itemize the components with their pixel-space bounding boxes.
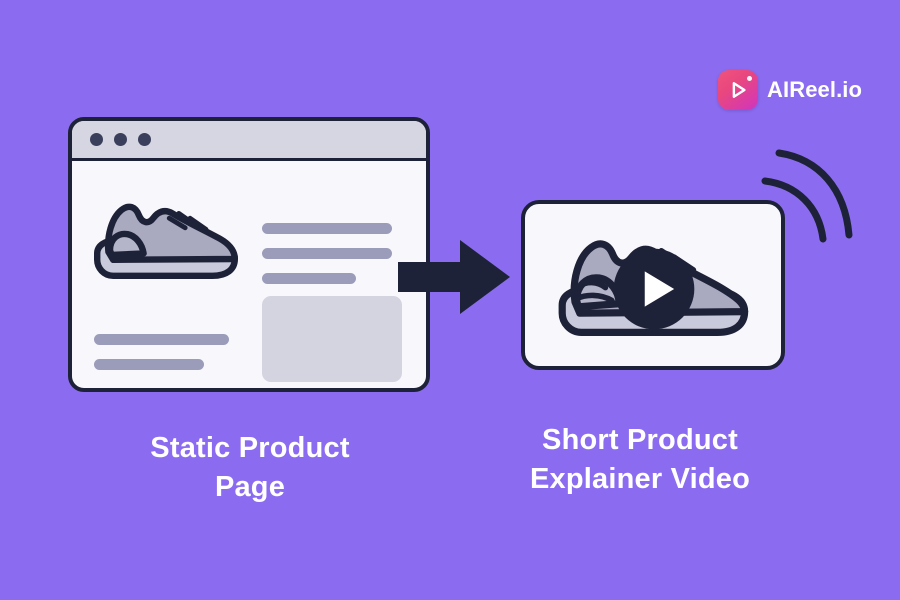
poster-canvas: AIReel.io xyxy=(0,0,900,600)
text-line-left-1 xyxy=(94,334,229,345)
text-line-right-1 xyxy=(262,223,392,234)
play-circle-icon[interactable] xyxy=(612,247,696,331)
brand-logo[interactable]: AIReel.io xyxy=(718,70,862,110)
content-block xyxy=(262,296,402,382)
text-line-left-2 xyxy=(94,359,204,370)
window-dot-close-icon[interactable] xyxy=(90,133,103,146)
play-triangle-icon xyxy=(727,79,749,101)
browser-content-area xyxy=(72,161,426,388)
window-dot-maximize-icon[interactable] xyxy=(138,133,151,146)
browser-titlebar xyxy=(72,121,426,161)
window-dot-minimize-icon[interactable] xyxy=(114,133,127,146)
text-line-right-3 xyxy=(262,273,356,284)
caption-short-explainer-video: Short Product Explainer Video xyxy=(470,421,810,498)
sneaker-icon xyxy=(86,183,246,291)
brand-name-label: AIReel.io xyxy=(767,77,862,103)
logo-spark-icon xyxy=(747,76,752,81)
caption-static-product-page: Static Product Page xyxy=(65,429,435,506)
static-product-page-browser-window[interactable] xyxy=(68,117,430,392)
aireel-logo-icon xyxy=(718,70,758,110)
text-line-right-2 xyxy=(262,248,392,259)
arrow-right-icon xyxy=(398,240,510,314)
short-explainer-video-card[interactable] xyxy=(521,200,785,370)
